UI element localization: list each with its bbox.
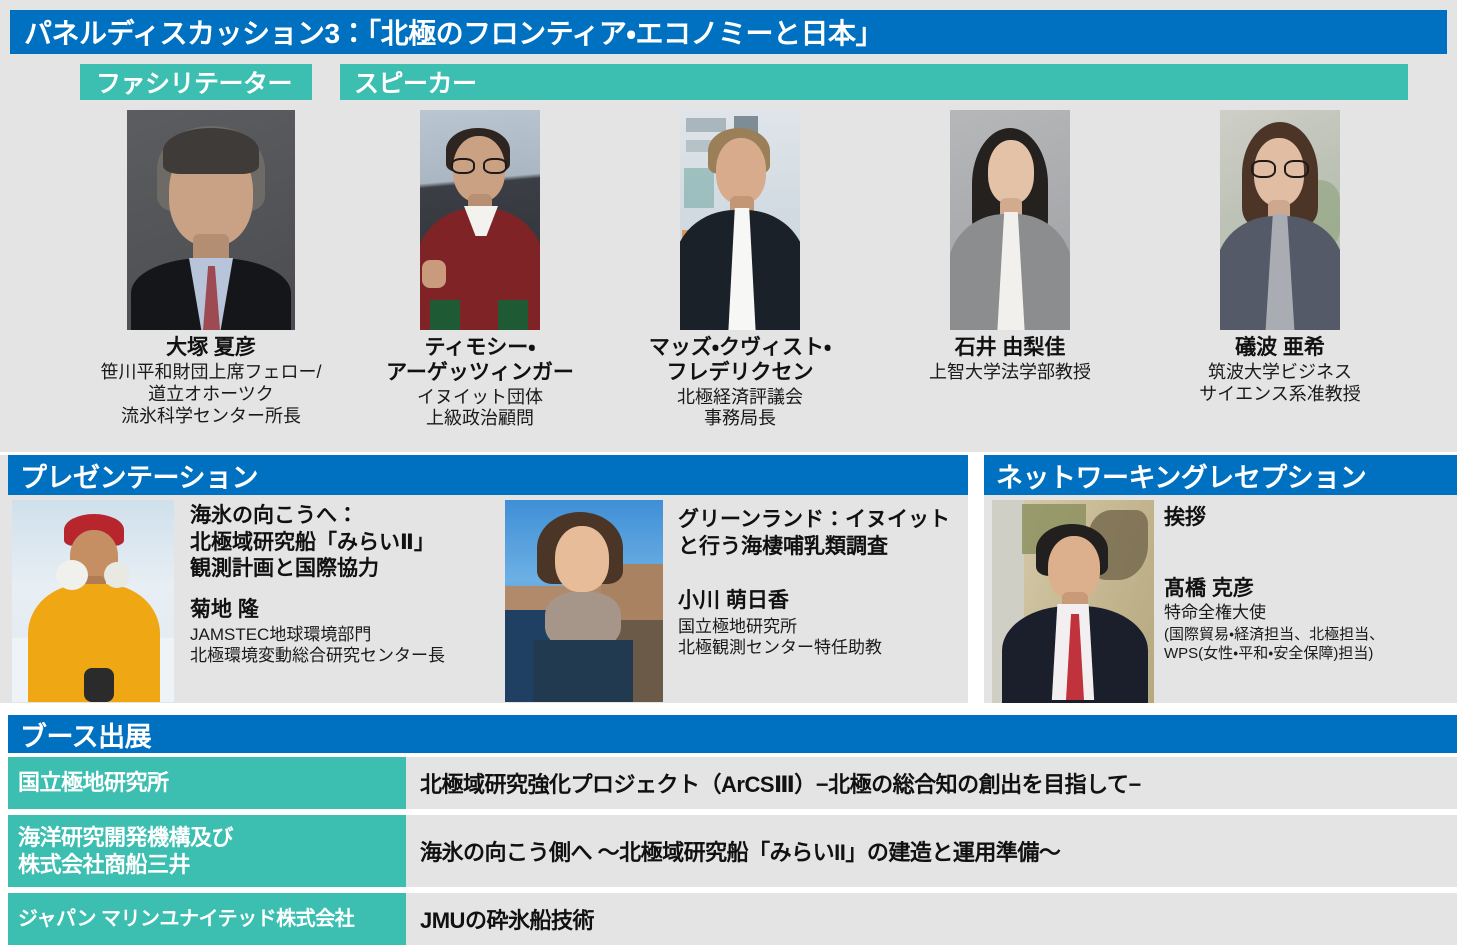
panel-discussion-title: パネルディスカッション3：「北極のフロンティア・エコノミーと日本」 bbox=[10, 10, 1447, 54]
speaker-name: 髙橋 克彦 bbox=[1164, 576, 1454, 601]
panelist-photo bbox=[680, 110, 800, 330]
presenter-affiliation: JAMSTEC地球環境部門 北極環境変動総合研究センター長 bbox=[190, 624, 490, 667]
panelist-card: ティモシー・ アーゲッツィンガー イヌイット団体 上級政治顧問 bbox=[330, 110, 630, 430]
panelist-card: 石井 由梨佳 上智大学法学部教授 bbox=[860, 110, 1160, 384]
facilitator-label: ファシリテーター bbox=[80, 64, 312, 100]
event-program-poster: パネルディスカッション3：「北極のフロンティア・エコノミーと日本」 ファシリテー… bbox=[0, 0, 1457, 949]
panelist-name: ティモシー・ アーゲッツィンガー bbox=[330, 336, 630, 386]
speaker-photo bbox=[992, 500, 1154, 703]
panelist-affiliation: 筑波大学ビジネス サイエンス系准教授 bbox=[1130, 362, 1430, 406]
booth-exhibition-title: ブース出展 bbox=[8, 715, 1457, 753]
table-row: 国立極地研究所 北極域研究強化プロジェクト（ArCSⅢ）−北極の総合知の創出を目… bbox=[8, 757, 1457, 809]
panelist-card: マッズ・クヴィスト・ フレデリクセン 北極経済評議会 事務局長 bbox=[590, 110, 890, 430]
greeting-label: 挨拶 bbox=[1164, 505, 1454, 530]
panelist-name: マッズ・クヴィスト・ フレデリクセン bbox=[590, 336, 890, 386]
panelist-name: 礒波 亜希 bbox=[1130, 336, 1430, 361]
presenter-photo bbox=[12, 500, 174, 702]
table-row: ジャパン マリンユナイテッド株式会社 JMUの砕氷船技術 bbox=[8, 893, 1457, 945]
table-row: 海洋研究開発機構及び 株式会社商船三井 海氷の向こう側へ 〜北極域研究船「みらい… bbox=[8, 815, 1457, 887]
networking-reception-title: ネットワーキングレセプション bbox=[984, 455, 1457, 495]
panelist-photo bbox=[420, 110, 540, 330]
panelist-name: 石井 由梨佳 bbox=[860, 336, 1160, 361]
presenter-name: 菊地 隆 bbox=[190, 597, 490, 622]
booth-description: 北極域研究強化プロジェクト（ArCSⅢ）−北極の総合知の創出を目指して− bbox=[406, 757, 1457, 809]
panel-discussion-section: パネルディスカッション3：「北極のフロンティア・エコノミーと日本」 ファシリテー… bbox=[0, 0, 1457, 452]
booth-org-name: 海洋研究開発機構及び 株式会社商船三井 bbox=[8, 815, 406, 887]
presenter-affiliation: 国立極地研究所 北極観測センター特任助教 bbox=[678, 616, 970, 659]
speaker-detail: (国際貿易・経済担当、北極担当、 WPS(女性・平和・安全保障)担当) bbox=[1164, 625, 1454, 664]
presentation-heading: グリーンランド：イヌイット と行う海棲哺乳類調査 bbox=[678, 507, 970, 560]
panelist-card: 礒波 亜希 筑波大学ビジネス サイエンス系准教授 bbox=[1130, 110, 1430, 406]
networking-reception-section: ネットワーキングレセプション 挨拶 髙橋 克彦 特命全権大使 (国際貿易・経済担… bbox=[984, 455, 1457, 703]
presentation-heading: 海氷の向こうへ： 北極域研究船「みらいⅡ」 観測計画と国際協力 bbox=[190, 503, 490, 583]
presentation-section: プレゼンテーション 海氷の向こうへ： 北極域研究船「みらいⅡ」 観測計画と国際協… bbox=[0, 455, 968, 703]
presenter-name: 小川 萌日香 bbox=[678, 588, 970, 613]
presentation-title: プレゼンテーション bbox=[8, 455, 968, 495]
panelist-affiliation: イヌイット団体 上級政治顧問 bbox=[330, 387, 630, 431]
booth-description: JMUの砕氷船技術 bbox=[406, 893, 1457, 945]
booth-description: 海氷の向こう側へ 〜北極域研究船「みらいII」の建造と運用準備〜 bbox=[406, 815, 1457, 887]
speaker-title: 特命全権大使 bbox=[1164, 602, 1454, 623]
panelist-photo bbox=[127, 110, 295, 330]
booth-exhibition-section: ブース出展 国立極地研究所 北極域研究強化プロジェクト（ArCSⅢ）−北極の総合… bbox=[0, 715, 1457, 949]
panelist-affiliation: 上智大学法学部教授 bbox=[860, 362, 1160, 384]
panelist-photo bbox=[1220, 110, 1340, 330]
panelist-affiliation: 北極経済評議会 事務局長 bbox=[590, 387, 890, 431]
speaker-label: スピーカー bbox=[340, 64, 1408, 100]
panelist-photo bbox=[950, 110, 1070, 330]
booth-org-name: ジャパン マリンユナイテッド株式会社 bbox=[8, 893, 406, 945]
presenter-photo bbox=[505, 500, 663, 702]
booth-org-name: 国立極地研究所 bbox=[8, 757, 406, 809]
